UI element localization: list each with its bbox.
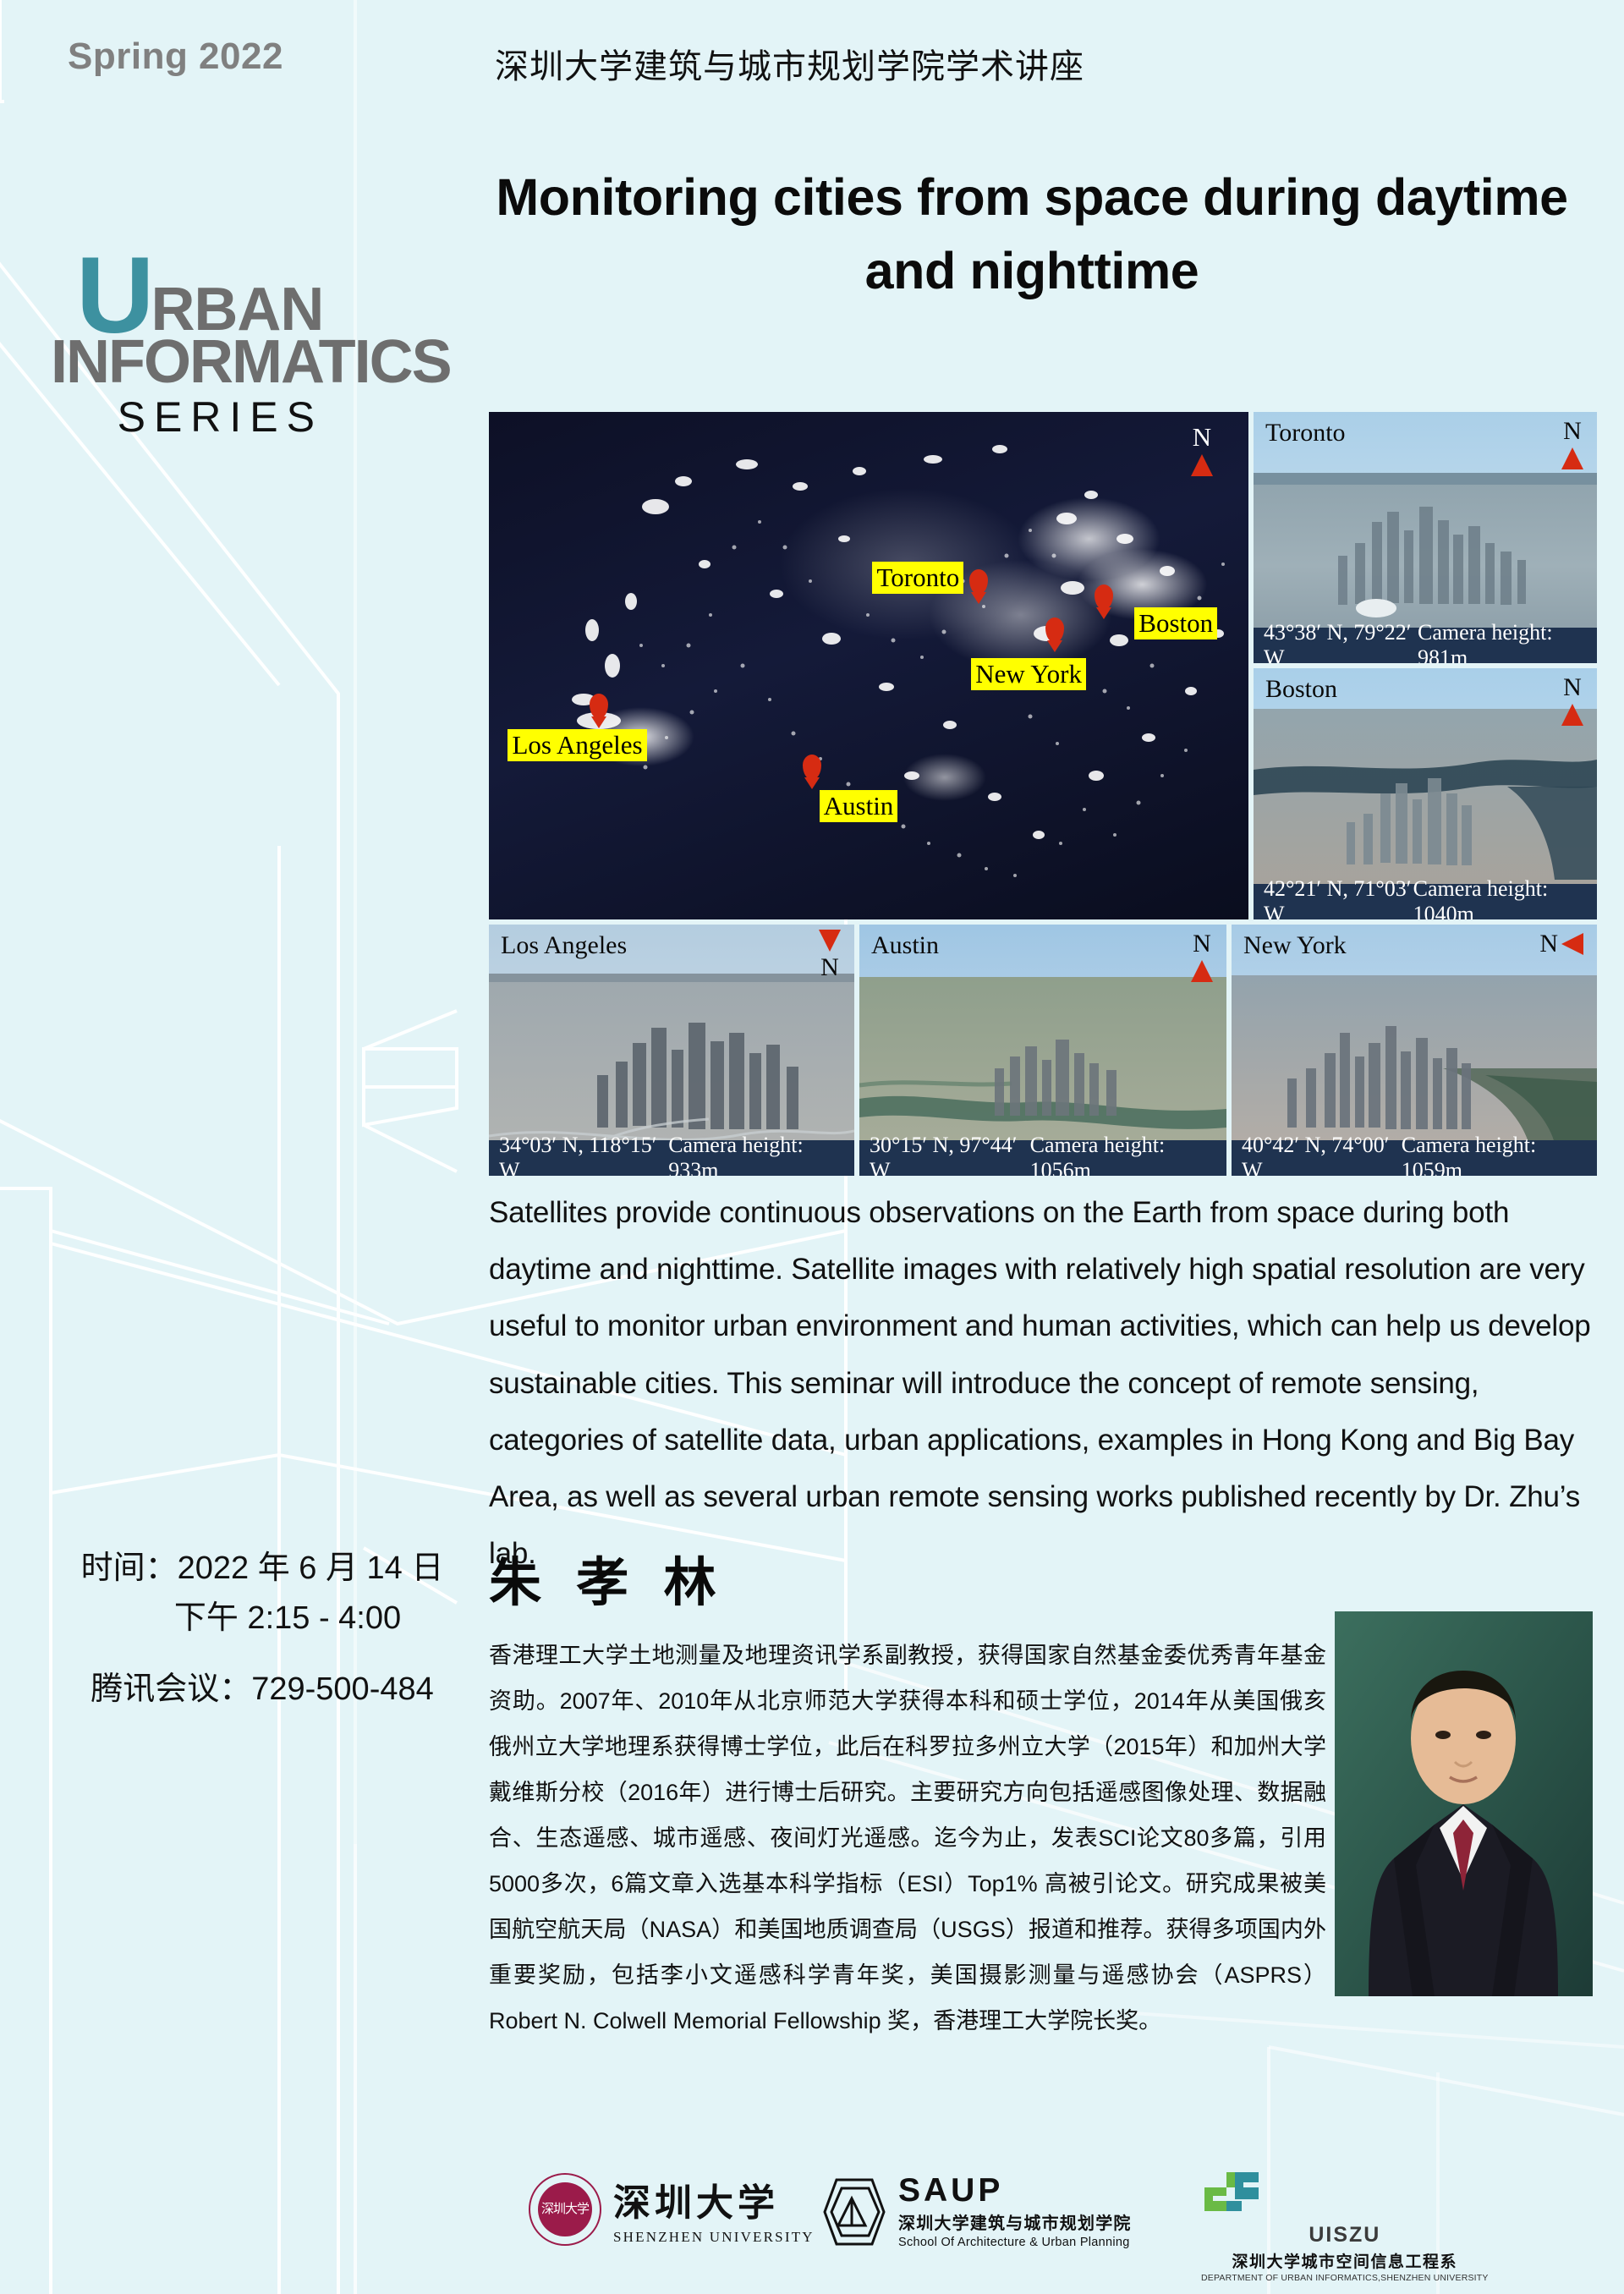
coords-new-york: 40°42′ N, 74°00′ W bbox=[1242, 1133, 1402, 1176]
north-arrow-icon bbox=[1191, 454, 1213, 476]
camera-height-new-york: Camera height: 1059m bbox=[1402, 1133, 1587, 1176]
coords-toronto: 43°38′ N, 79°22′ W bbox=[1264, 620, 1418, 663]
city-card-austin: Austin N 30°15′ N, 97°44′ W Camera heigh… bbox=[859, 925, 1226, 1176]
city-name-austin: Austin bbox=[871, 931, 939, 960]
caption-new-york: 40°42′ N, 74°00′ W Camera height: 1059m bbox=[1232, 1140, 1597, 1176]
event-time-label: 时间：2022 年 6 月 14 日 bbox=[68, 1544, 457, 1594]
urban-informatics-series-logo: U RBAN INFORMATICS SERIES bbox=[51, 254, 330, 442]
saup-name-cn: 深圳大学建筑与城市规划学院 bbox=[898, 2209, 1132, 2234]
coords-austin: 30°15′ N, 97°44′ W bbox=[870, 1133, 1030, 1176]
shenzhen-university-logo: 深圳大学 深圳大学 SHENZHEN UNIVERSITY bbox=[529, 2172, 815, 2246]
north-indicator-austin: N bbox=[1191, 930, 1213, 982]
poster-root: Spring 2022 深圳大学建筑与城市规划学院学术讲座 U RBAN INF… bbox=[0, 0, 1624, 2294]
speaker-bio: 香港理工大学土地测量及地理资讯学系副教授，获得国家自然基金委优秀青年基金资助。2… bbox=[489, 1633, 1326, 2044]
north-arrow-icon bbox=[819, 930, 841, 952]
city-card-los-angeles: Los Angeles N 34°03′ N, 118°15′ W Camera… bbox=[489, 925, 854, 1176]
saup-name-en: School Of Architecture & Urban Planning bbox=[898, 2236, 1132, 2249]
city-card-new-york: New York N 40°42′ N, 74°00′ W Camera hei… bbox=[1232, 925, 1597, 1176]
coords-boston: 42°21′ N, 71°03′ W bbox=[1264, 876, 1413, 919]
north-arrow-icon bbox=[1561, 933, 1583, 955]
caption-toronto: 43°38′ N, 79°22′ W Camera height: 981m bbox=[1254, 628, 1597, 663]
north-arrow-icon bbox=[1561, 447, 1583, 469]
talk-title: Monitoring cities from space during dayt… bbox=[486, 161, 1577, 307]
city-lights-overlay bbox=[489, 412, 1248, 919]
uiszu-logo: UISZU 深圳大学城市空间信息工程系 DEPARTMENT OF URBAN … bbox=[1201, 2169, 1489, 2283]
event-time-value: 下午 2:15 - 4:00 bbox=[68, 1594, 457, 1644]
figure-panel: N Los Angeles Austin Toronto New York Bo… bbox=[489, 412, 1597, 1176]
north-indicator-los-angeles: N bbox=[819, 930, 841, 982]
caption-austin: 30°15′ N, 97°44′ W Camera height: 1056m bbox=[859, 1140, 1226, 1176]
logo-word-series: SERIES bbox=[51, 392, 330, 442]
speaker-portrait bbox=[1335, 1611, 1593, 1996]
city-name-toronto: Toronto bbox=[1265, 419, 1346, 447]
logo-letter-u: U bbox=[76, 254, 151, 338]
city-card-boston: Boston N 42°21′ N, 71°03′ W Camera heigh… bbox=[1254, 668, 1597, 919]
abstract-text: Satellites provide continuous observatio… bbox=[489, 1184, 1601, 1582]
speaker-name: 朱 孝 林 bbox=[489, 1539, 726, 1616]
saup-title: SAUP bbox=[898, 2174, 1132, 2207]
uiszu-wordmark: UISZU bbox=[1201, 2223, 1489, 2247]
saup-hexagon-icon bbox=[816, 2176, 887, 2247]
szu-seal-text: 深圳大学 bbox=[530, 2175, 600, 2244]
nighttime-lights-map: N Los Angeles Austin Toronto New York Bo… bbox=[489, 412, 1248, 919]
caption-boston: 42°21′ N, 71°03′ W Camera height: 1040m bbox=[1254, 884, 1597, 919]
camera-height-austin: Camera height: 1056m bbox=[1030, 1133, 1216, 1176]
north-indicator-toronto: N bbox=[1561, 417, 1583, 469]
szu-name-en: SHENZHEN UNIVERSITY bbox=[613, 2229, 815, 2246]
uiszu-name-cn: 深圳大学城市空间信息工程系 bbox=[1201, 2249, 1489, 2272]
coords-los-angeles: 34°03′ N, 118°15′ W bbox=[499, 1133, 668, 1176]
north-arrow-icon bbox=[1191, 960, 1213, 982]
map-label-austin: Austin bbox=[820, 790, 898, 822]
north-indicator-boston: N bbox=[1561, 673, 1583, 726]
map-label-boston: Boston bbox=[1134, 607, 1217, 639]
logo-word-informatics: INFORMATICS bbox=[51, 333, 330, 391]
map-label-toronto: Toronto bbox=[872, 562, 963, 594]
camera-height-boston: Camera height: 1040m bbox=[1413, 876, 1587, 919]
city-name-los-angeles: Los Angeles bbox=[501, 931, 627, 960]
camera-height-los-angeles: Camera height: 933m bbox=[668, 1133, 844, 1176]
szu-seal-icon: 深圳大学 bbox=[529, 2173, 601, 2246]
uiszu-name-en: DEPARTMENT OF URBAN INFORMATICS,SHENZHEN… bbox=[1201, 2273, 1489, 2283]
event-time: 时间：2022 年 6 月 14 日 下午 2:15 - 4:00 bbox=[68, 1544, 457, 1644]
footer-logos: 深圳大学 深圳大学 SHENZHEN UNIVERSITY SAUP 深圳大学建… bbox=[0, 2165, 1624, 2275]
camera-height-toronto: Camera height: 981m bbox=[1418, 620, 1587, 663]
map-label-los-angeles: Los Angeles bbox=[507, 729, 646, 761]
map-label-new-york: New York bbox=[971, 658, 1086, 690]
map-north-indicator: N bbox=[1191, 422, 1213, 476]
uiszu-blocks-icon bbox=[1201, 2169, 1262, 2218]
event-meeting-id: 腾讯会议：729-500-484 bbox=[68, 1662, 457, 1709]
season-label: Spring 2022 bbox=[68, 36, 283, 78]
city-name-new-york: New York bbox=[1243, 931, 1347, 960]
department-header: 深圳大学建筑与城市规划学院学术讲座 bbox=[495, 39, 1084, 88]
north-indicator-new-york: N bbox=[1539, 930, 1583, 958]
city-card-toronto: Toronto N 43°38′ N, 79°22′ W Camera heig… bbox=[1254, 412, 1597, 663]
szu-name-cn: 深圳大学 bbox=[613, 2172, 815, 2226]
north-arrow-icon bbox=[1561, 704, 1583, 726]
saup-logo: SAUP 深圳大学建筑与城市规划学院 School Of Architectur… bbox=[816, 2174, 1132, 2249]
city-name-boston: Boston bbox=[1265, 675, 1337, 704]
caption-los-angeles: 34°03′ N, 118°15′ W Camera height: 933m bbox=[489, 1140, 854, 1176]
